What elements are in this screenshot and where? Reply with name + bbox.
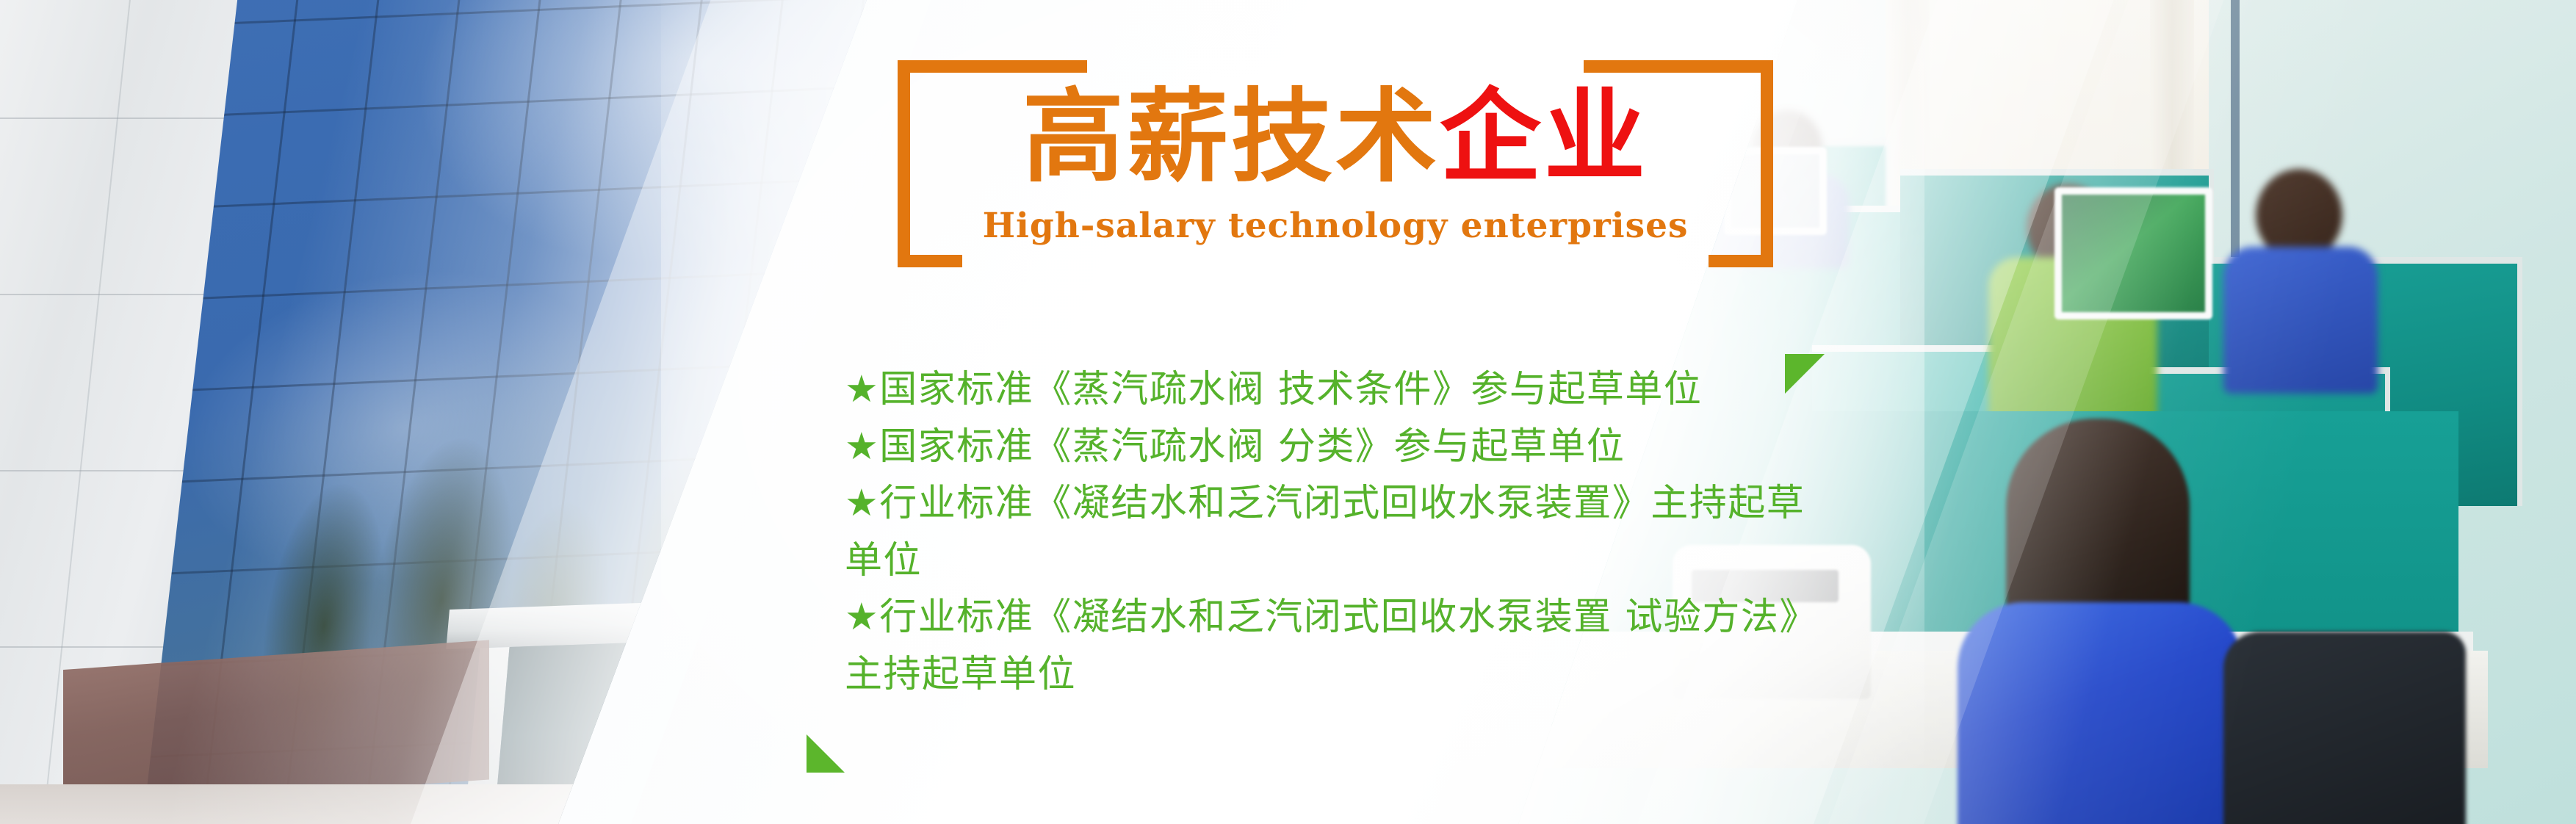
green-triangle-icon [1785,354,1825,394]
title-part-red: 企业 [1440,78,1648,196]
list-item: ★行业标准《凝结水和乏汽闭式回收水泵装置 试验方法》主持起草单位 [845,589,1822,703]
green-triangle-icon [807,734,845,773]
page-title: 高薪技术企业 [898,87,1773,188]
achievement-list: ★国家标准《蒸汽疏水阀 技术条件》参与起草单位 ★国家标准《蒸汽疏水阀 分类》参… [845,361,1822,703]
title-part-orange: 高薪技术 [1022,78,1440,196]
list-item: ★国家标准《蒸汽疏水阀 技术条件》参与起草单位 [845,361,1822,419]
list-item: ★国家标准《蒸汽疏水阀 分类》参与起草单位 [845,419,1822,476]
banner-content: 高薪技术企业 High-salary technology enterprise… [0,0,2576,824]
page-subtitle: High-salary technology enterprises [898,209,1773,243]
title-block: 高薪技术企业 High-salary technology enterprise… [898,87,1773,243]
list-item: ★行业标准《凝结水和乏汽闭式回收水泵装置》主持起草单位 [845,475,1822,589]
promotional-banner: 高薪技术企业 High-salary technology enterprise… [0,0,2576,824]
